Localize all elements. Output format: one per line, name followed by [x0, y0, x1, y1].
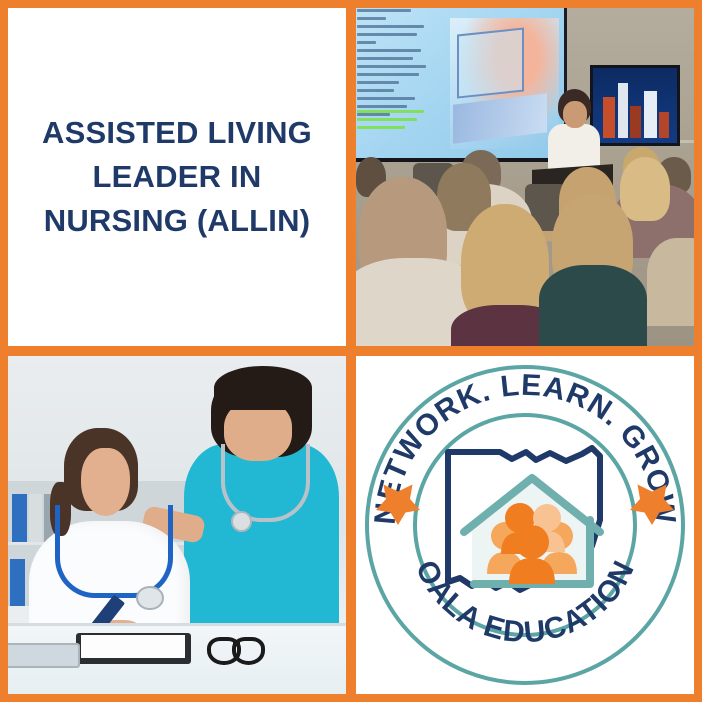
- image-collage: ASSISTED LIVING LEADER IN NURSING (ALLIN…: [0, 0, 702, 702]
- slide-illustration: [450, 18, 559, 149]
- audience-shoulders: [539, 265, 647, 346]
- stethoscope-chestpiece: [136, 586, 164, 610]
- clipboard: [76, 633, 191, 663]
- clipboard-paper: [81, 635, 184, 658]
- seal-graphic: NETWORK. LEARN. GROW OALA EDUCATION: [360, 360, 690, 690]
- tablet-device: [8, 643, 80, 667]
- audience-head: [620, 157, 671, 221]
- audience-shoulders: [647, 238, 694, 326]
- nurse-stethoscope: [221, 444, 310, 522]
- artwork-building: [603, 97, 615, 139]
- nurses-consultation-photo: [8, 356, 346, 694]
- person-head-front: [515, 525, 549, 559]
- artwork-building: [618, 83, 627, 138]
- desk-edge: [8, 623, 346, 626]
- eyeglasses: [207, 637, 264, 657]
- collage-grid: ASSISTED LIVING LEADER IN NURSING (ALLIN…: [0, 0, 702, 702]
- speaker-figure: [545, 89, 602, 177]
- projection-screen: [356, 8, 567, 162]
- title-line-3: NURSING (ALLIN): [42, 199, 312, 243]
- title-panel: ASSISTED LIVING LEADER IN NURSING (ALLIN…: [8, 8, 346, 346]
- artwork-building: [659, 112, 669, 139]
- doctor-stethoscope: [55, 505, 173, 598]
- nurses-photo-scene: [8, 356, 346, 694]
- nurse-hair-top: [214, 366, 312, 410]
- conference-session-photo: [356, 8, 694, 346]
- wall-artwork-frame: [590, 65, 681, 145]
- artwork-building: [644, 91, 658, 139]
- oala-education-seal: NETWORK. LEARN. GROW OALA EDUCATION: [356, 356, 694, 694]
- artwork-building: [630, 106, 641, 139]
- speaker-face: [563, 101, 587, 127]
- conference-photo-scene: [356, 8, 694, 346]
- slide-text-block: [357, 9, 453, 121]
- title-line-2: LEADER IN: [42, 155, 312, 199]
- title-block: ASSISTED LIVING LEADER IN NURSING (ALLIN…: [28, 111, 326, 243]
- slide-highlight-block: [357, 110, 453, 134]
- eyeglass-bridge: [233, 640, 240, 644]
- title-line-1: ASSISTED LIVING: [42, 111, 312, 155]
